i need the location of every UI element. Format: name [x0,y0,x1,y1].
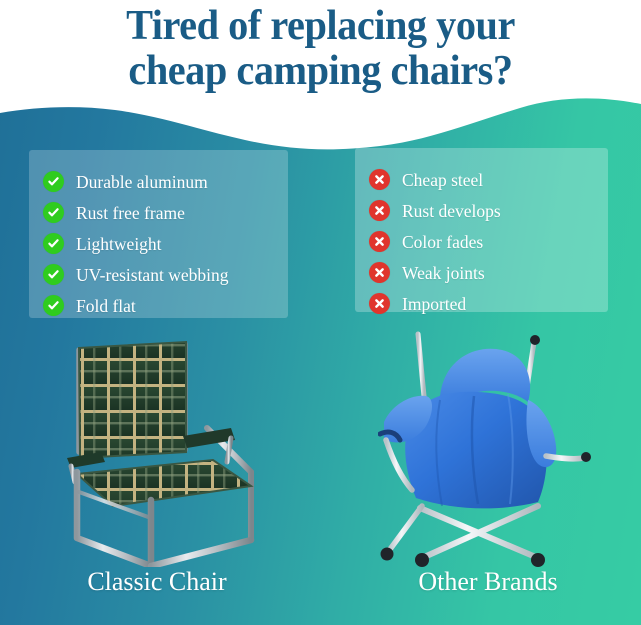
infographic-canvas: Tired of replacing your cheap camping ch… [0,0,641,625]
list-item: Weak joints [369,257,608,288]
check-circle-icon [43,264,64,285]
classic-chair-image [55,332,280,567]
cross-circle-icon [369,262,390,283]
other-brands-caption: Other Brands [368,567,608,597]
cross-circle-icon [369,200,390,221]
list-item: Lightweight [43,228,288,259]
list-item-label: Weak joints [402,263,485,283]
list-item-label: UV-resistant webbing [76,265,228,285]
cons-panel: Cheap steel Rust develops Color fades We… [355,148,608,312]
check-circle-icon [43,233,64,254]
list-item: Rust free frame [43,197,288,228]
list-item: UV-resistant webbing [43,259,288,290]
check-circle-icon [43,202,64,223]
list-item-label: Cheap steel [402,170,483,190]
cons-list: Cheap steel Rust develops Color fades We… [355,148,608,319]
list-item: Rust develops [369,195,608,226]
check-circle-icon [43,171,64,192]
list-item-label: Durable aluminum [76,172,208,192]
pros-list: Durable aluminum Rust free frame Lightwe… [29,150,288,321]
list-item: Color fades [369,226,608,257]
list-item: Cheap steel [369,164,608,195]
list-item: Durable aluminum [43,166,288,197]
page-title: Tired of replacing your cheap camping ch… [13,4,628,94]
list-item: Imported [369,288,608,319]
classic-chair-caption: Classic Chair [37,567,277,597]
list-item-label: Color fades [402,232,483,252]
list-item: Fold flat [43,290,288,321]
cross-circle-icon [369,231,390,252]
other-brand-chair-image [378,330,608,568]
list-item-label: Rust develops [402,201,501,221]
list-item-label: Imported [402,294,466,314]
list-item-label: Rust free frame [76,203,185,223]
pros-panel: Durable aluminum Rust free frame Lightwe… [29,150,288,318]
list-item-label: Lightweight [76,234,162,254]
cross-circle-icon [369,169,390,190]
cross-circle-icon [369,293,390,314]
check-circle-icon [43,295,64,316]
list-item-label: Fold flat [76,296,136,316]
